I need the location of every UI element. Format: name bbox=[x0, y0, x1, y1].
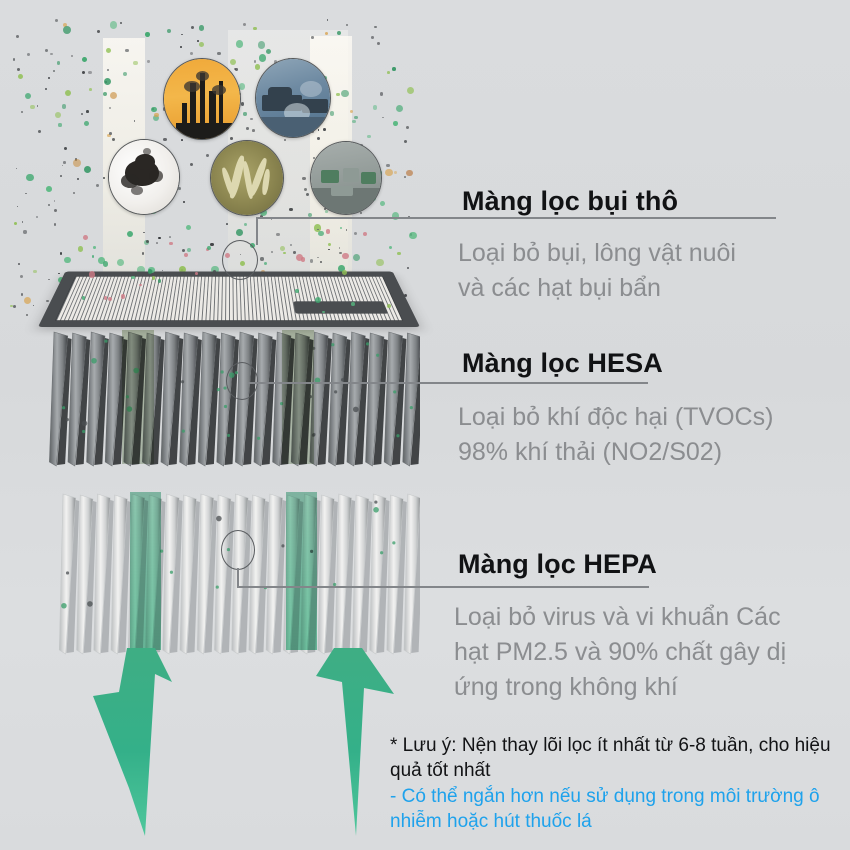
particle bbox=[50, 53, 52, 55]
particle bbox=[181, 34, 182, 35]
particle bbox=[317, 137, 320, 140]
particle bbox=[147, 60, 149, 62]
particle bbox=[243, 23, 246, 26]
particle bbox=[352, 120, 355, 123]
particle bbox=[73, 192, 75, 194]
particle bbox=[58, 123, 61, 126]
particle bbox=[55, 19, 58, 22]
label-hepa-desc-wrap: Loại bỏ virus và vi khuẩn Các hạt PM2.5 … bbox=[454, 592, 850, 705]
particle bbox=[120, 22, 122, 24]
particle bbox=[64, 257, 70, 263]
particle bbox=[84, 166, 92, 174]
particle bbox=[169, 242, 173, 246]
particle bbox=[45, 88, 47, 90]
inset-vehicle-exhaust bbox=[255, 58, 331, 138]
leader-line-prefilter bbox=[256, 217, 776, 219]
particle bbox=[190, 163, 193, 166]
airflow-arrow-left bbox=[75, 648, 210, 848]
leader-stem-prefilter bbox=[256, 217, 258, 245]
particle bbox=[351, 302, 355, 306]
magnifier-circle-prefilter bbox=[222, 240, 258, 280]
particle bbox=[84, 121, 89, 126]
particle bbox=[133, 61, 138, 66]
particle bbox=[62, 104, 66, 108]
pre-filter-frame bbox=[38, 272, 420, 327]
particle bbox=[53, 70, 55, 72]
leader-stem-hepa bbox=[237, 568, 239, 588]
particle bbox=[20, 275, 23, 278]
particle bbox=[336, 93, 340, 97]
particle bbox=[27, 53, 30, 56]
particle bbox=[14, 222, 17, 225]
particle bbox=[57, 61, 61, 65]
particle bbox=[60, 175, 62, 177]
particle bbox=[266, 49, 271, 54]
particle bbox=[151, 107, 156, 112]
inset-dust-soot bbox=[108, 139, 180, 215]
particle bbox=[406, 126, 409, 129]
particle bbox=[26, 174, 33, 181]
particle bbox=[134, 120, 135, 121]
particle bbox=[48, 77, 50, 79]
particle bbox=[97, 30, 100, 33]
particle bbox=[107, 69, 110, 72]
particle bbox=[330, 111, 335, 116]
particle bbox=[108, 297, 112, 301]
particle bbox=[327, 19, 329, 21]
particle bbox=[33, 305, 35, 307]
particle bbox=[110, 21, 118, 29]
particle bbox=[131, 276, 135, 280]
particle bbox=[23, 230, 26, 233]
particle bbox=[26, 314, 28, 316]
particle bbox=[325, 32, 328, 35]
label-hesa-heading: Màng lọc HESA bbox=[462, 348, 842, 378]
label-hesa-description: Loại bỏ khí độc hại (TVOCs) 98% khí thải… bbox=[458, 400, 848, 470]
particle bbox=[295, 289, 298, 292]
particle bbox=[65, 90, 71, 96]
particle bbox=[304, 188, 307, 191]
particle bbox=[406, 170, 412, 176]
particle bbox=[190, 52, 193, 55]
particle bbox=[250, 118, 253, 121]
particle bbox=[217, 52, 220, 55]
particle bbox=[16, 168, 18, 170]
particle bbox=[377, 42, 380, 45]
particle bbox=[63, 161, 66, 164]
particle bbox=[367, 135, 370, 138]
footnote-replacement-note: * Lưu ý: Nện thay lõi lọc ít nhất từ 6-8… bbox=[390, 733, 840, 783]
particle bbox=[311, 36, 314, 39]
particle bbox=[86, 110, 89, 113]
magnifier-circle-hepa bbox=[221, 530, 255, 570]
magnifier-circle-hesa bbox=[226, 362, 258, 400]
particle bbox=[25, 193, 27, 195]
particle bbox=[24, 297, 31, 304]
particle bbox=[110, 92, 117, 99]
particle bbox=[167, 29, 171, 33]
particle bbox=[342, 253, 348, 259]
particle bbox=[73, 159, 81, 167]
particle bbox=[396, 105, 404, 113]
particle bbox=[81, 113, 83, 115]
particle bbox=[404, 176, 406, 178]
particle bbox=[387, 71, 390, 74]
inset-industrial-smokestacks bbox=[163, 58, 241, 140]
particle bbox=[46, 186, 52, 192]
particle bbox=[38, 130, 41, 133]
particle bbox=[374, 26, 377, 29]
label-hepa: Màng lọc HEPA bbox=[458, 549, 838, 579]
particle bbox=[246, 127, 249, 130]
hepa-filter-assembly[interactable] bbox=[58, 492, 420, 660]
particle bbox=[103, 177, 105, 179]
particle bbox=[404, 140, 407, 143]
particle bbox=[393, 121, 398, 126]
particle bbox=[373, 105, 377, 109]
particle bbox=[183, 201, 185, 203]
particle bbox=[78, 246, 84, 252]
particle bbox=[22, 221, 23, 222]
label-hepa-description: Loại bỏ virus và vi khuẩn Các hạt PM2.5 … bbox=[454, 600, 850, 705]
particle bbox=[252, 129, 255, 132]
particle bbox=[243, 112, 246, 115]
label-hepa-heading: Màng lọc HEPA bbox=[458, 549, 838, 579]
label-prefilter-desc-wrap: Loại bỏ bụi, lông vật nuôi và các hạt bụ… bbox=[458, 228, 848, 306]
label-prefilter-heading: Màng lọc bụi thô bbox=[462, 186, 842, 216]
particle bbox=[21, 293, 24, 296]
leader-line-hepa bbox=[237, 586, 649, 588]
particle bbox=[181, 139, 183, 141]
particle bbox=[341, 90, 349, 98]
particle bbox=[103, 92, 108, 97]
particle bbox=[380, 92, 383, 95]
infographic-canvas: Màng lọc bụi thô Loại bỏ bụi, lông vật n… bbox=[0, 0, 850, 850]
particle bbox=[121, 294, 126, 299]
particle bbox=[145, 32, 150, 37]
particle bbox=[302, 177, 306, 181]
footnote-block: * Lưu ý: Nện thay lõi lọc ít nhất từ 6-8… bbox=[390, 733, 840, 834]
particle bbox=[199, 25, 204, 30]
label-hesa: Màng lọc HESA bbox=[462, 348, 842, 378]
particle bbox=[180, 46, 182, 48]
particle bbox=[17, 206, 18, 207]
particle bbox=[63, 26, 71, 34]
particle bbox=[54, 200, 56, 202]
particle bbox=[82, 71, 85, 74]
particle bbox=[71, 55, 74, 58]
particle bbox=[104, 78, 111, 85]
particle bbox=[258, 41, 265, 48]
particle bbox=[18, 74, 23, 79]
particle bbox=[407, 87, 414, 94]
particle bbox=[17, 68, 20, 71]
particle bbox=[18, 263, 20, 265]
particle bbox=[197, 40, 199, 42]
label-prefilter: Màng lọc bụi thô bbox=[462, 186, 842, 216]
particle bbox=[45, 49, 48, 52]
particle bbox=[350, 110, 354, 114]
particle bbox=[30, 105, 35, 110]
particle bbox=[93, 246, 96, 249]
particle bbox=[340, 227, 342, 229]
particle bbox=[62, 165, 64, 167]
particle bbox=[77, 178, 78, 179]
particle bbox=[83, 235, 88, 240]
particle bbox=[354, 116, 357, 119]
particle bbox=[10, 305, 13, 308]
particle bbox=[284, 139, 286, 141]
inset-road-traffic bbox=[310, 141, 382, 215]
particle bbox=[64, 147, 67, 150]
particle bbox=[125, 49, 128, 52]
particle bbox=[16, 35, 19, 38]
particle bbox=[236, 40, 243, 47]
particle bbox=[37, 105, 39, 107]
label-hesa-desc-wrap: Loại bỏ khí độc hại (TVOCs) 98% khí thải… bbox=[458, 392, 848, 470]
particle bbox=[199, 42, 204, 47]
particle bbox=[342, 270, 347, 275]
particle bbox=[55, 112, 61, 118]
particle bbox=[109, 107, 111, 109]
particle bbox=[109, 132, 112, 135]
particle bbox=[206, 154, 209, 157]
leader-line-hesa bbox=[248, 382, 648, 384]
label-prefilter-description: Loại bỏ bụi, lông vật nuôi và các hạt bụ… bbox=[458, 236, 848, 306]
hesa-filter-assembly[interactable] bbox=[48, 330, 420, 472]
particle bbox=[13, 305, 16, 308]
particle bbox=[106, 48, 112, 54]
particle bbox=[33, 270, 37, 274]
particle bbox=[191, 26, 194, 29]
particle bbox=[371, 36, 374, 39]
particle bbox=[392, 67, 396, 71]
particle bbox=[89, 88, 92, 91]
pre-filter-handle[interactable] bbox=[293, 301, 388, 313]
particle bbox=[21, 111, 23, 113]
particle bbox=[386, 164, 389, 167]
particle bbox=[382, 117, 384, 119]
particle bbox=[103, 261, 108, 266]
particle bbox=[306, 193, 309, 196]
particle bbox=[88, 71, 91, 74]
particle bbox=[394, 171, 397, 174]
particle bbox=[397, 252, 401, 256]
particle bbox=[241, 102, 245, 106]
footnote-polluted-env-note: - Có thể ngắn hơn nếu sử dụng trong môi … bbox=[390, 784, 840, 834]
particle bbox=[346, 24, 348, 26]
particle bbox=[89, 271, 95, 277]
particle bbox=[82, 57, 87, 62]
particle bbox=[25, 93, 32, 100]
particle bbox=[385, 169, 392, 176]
particle bbox=[96, 184, 99, 187]
particle bbox=[337, 31, 341, 35]
particle bbox=[123, 72, 127, 76]
particle bbox=[13, 58, 15, 60]
particle bbox=[253, 27, 257, 31]
particle bbox=[184, 253, 188, 257]
